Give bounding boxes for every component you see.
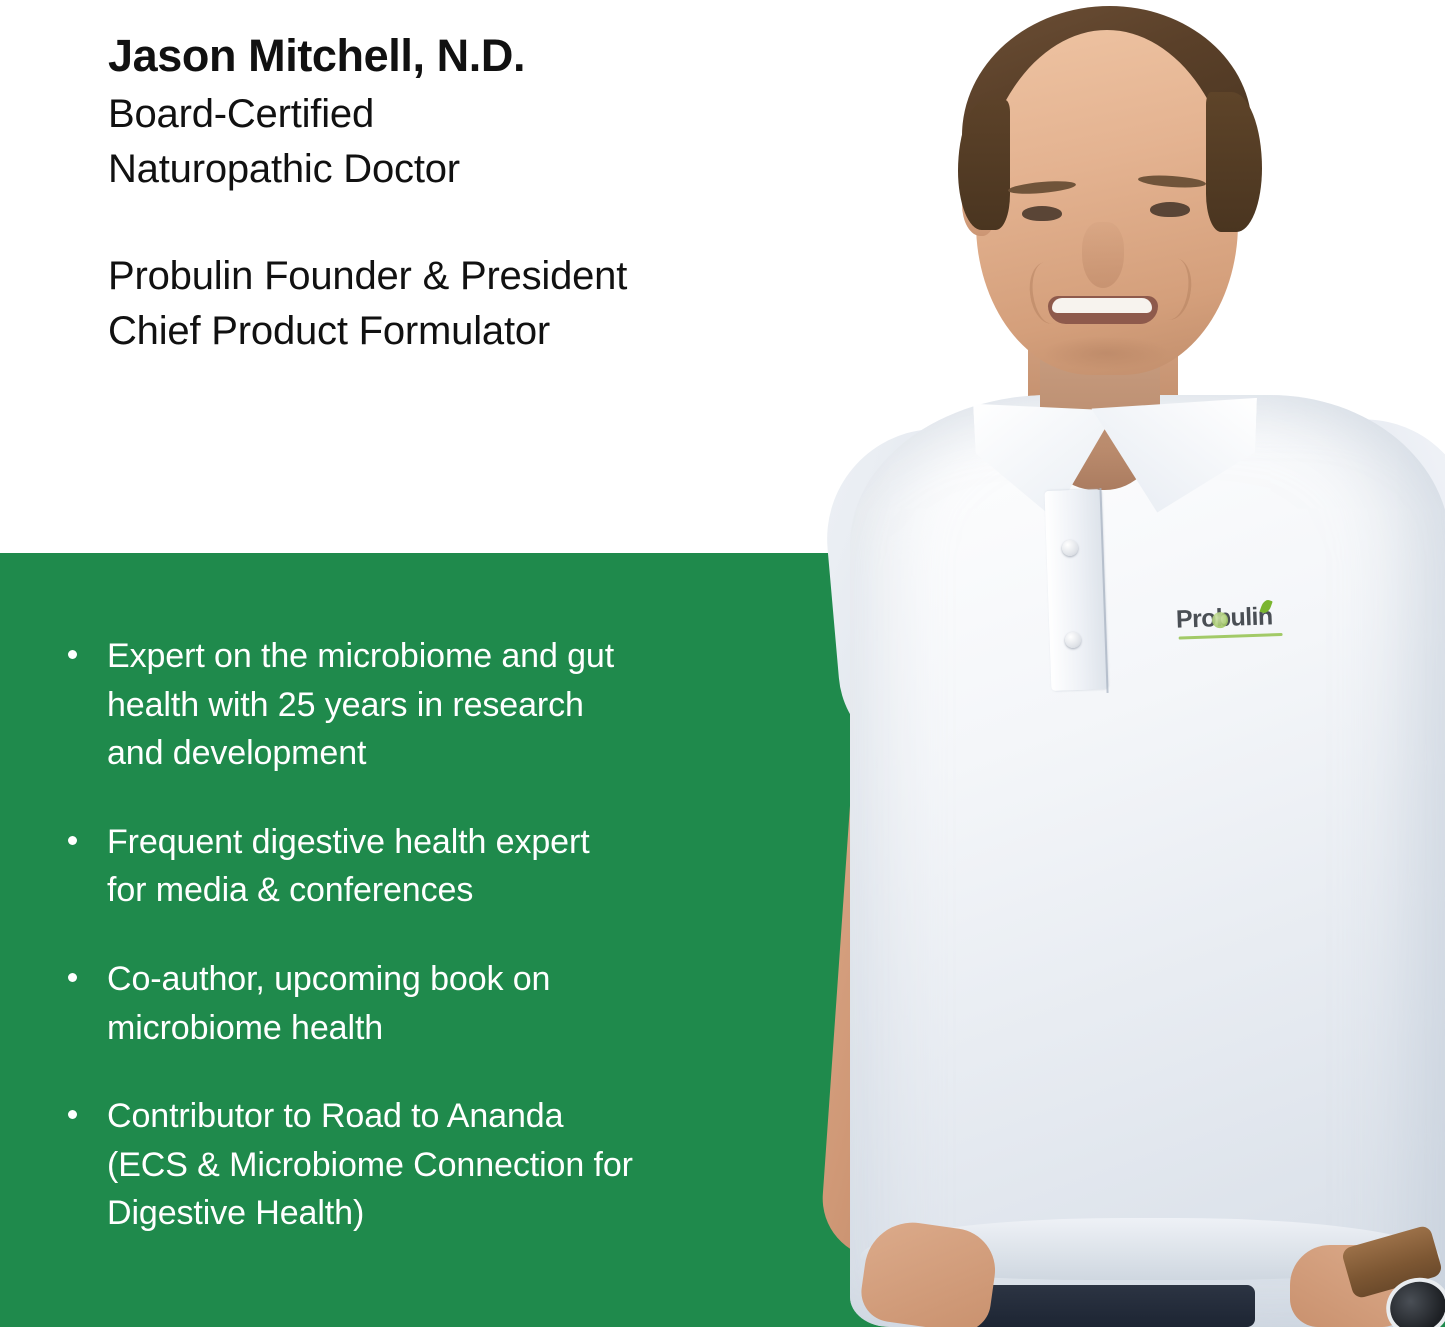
shirt-button-top bbox=[1062, 540, 1078, 556]
credential-line-2: Naturopathic Doctor bbox=[108, 142, 908, 197]
hair-side-right bbox=[1206, 92, 1262, 232]
probulin-logo: Probulin bbox=[1176, 602, 1274, 634]
promo-banner: Probulin Jason Mitchell, N.D. Board bbox=[0, 0, 1445, 1327]
highlights-list: Expert on the microbiome and gut health … bbox=[62, 632, 762, 1238]
credential-line-1: Board-Certified bbox=[108, 87, 908, 142]
list-item: Co-author, upcoming book on microbiome h… bbox=[62, 955, 762, 1052]
eye-right bbox=[1150, 202, 1190, 217]
list-item: Frequent digestive health expert for med… bbox=[62, 818, 762, 915]
waistband bbox=[955, 1285, 1255, 1327]
bullet-dot-icon bbox=[68, 650, 77, 659]
shirt-button-bottom bbox=[1065, 632, 1081, 648]
bullet-dot-icon bbox=[68, 1110, 77, 1119]
role-line-2: Chief Product Formulator bbox=[108, 304, 908, 359]
list-item-label: Co-author, upcoming book on microbiome h… bbox=[107, 955, 762, 1052]
page-title: Jason Mitchell, N.D. bbox=[108, 30, 908, 83]
role-block: Probulin Founder & President Chief Produ… bbox=[108, 249, 908, 359]
list-item-label: Frequent digestive health expert for med… bbox=[107, 818, 762, 915]
list-item-label: Contributor to Road to Ananda (ECS & Mic… bbox=[107, 1092, 762, 1238]
teeth bbox=[1052, 298, 1152, 313]
credential-block: Board-Certified Naturopathic Doctor bbox=[108, 87, 908, 197]
mouth bbox=[1048, 296, 1158, 324]
list-item: Expert on the microbiome and gut health … bbox=[62, 632, 762, 778]
chin-shadow bbox=[1042, 336, 1170, 370]
polo-shirt bbox=[850, 395, 1445, 1327]
eye-left bbox=[1022, 206, 1062, 221]
bullet-dot-icon bbox=[68, 973, 77, 982]
role-line-1: Probulin Founder & President bbox=[108, 249, 908, 304]
shirt-placket bbox=[1045, 489, 1108, 691]
list-item: Contributor to Road to Ananda (ECS & Mic… bbox=[62, 1092, 762, 1238]
list-item-label: Expert on the microbiome and gut health … bbox=[107, 632, 762, 778]
bullet-dot-icon bbox=[68, 836, 77, 845]
hair-side-left bbox=[958, 100, 1010, 230]
header-text-block: Jason Mitchell, N.D. Board-Certified Nat… bbox=[108, 30, 908, 359]
nose bbox=[1082, 222, 1124, 288]
